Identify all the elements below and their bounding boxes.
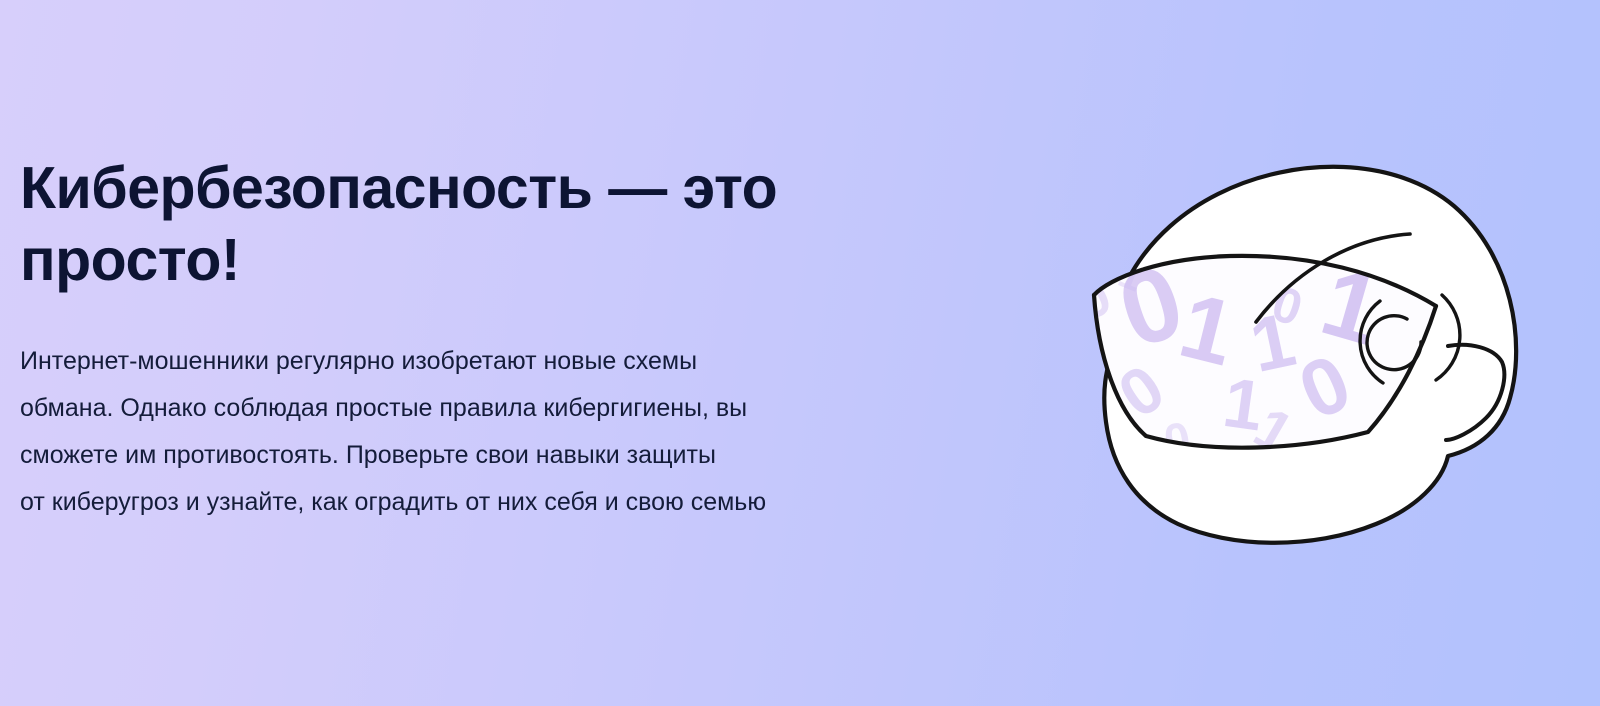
- hero-description: Интернет-мошенники регулярно изобретают …: [20, 296, 970, 526]
- page-title: Кибербезопасность — это просто!: [20, 152, 970, 296]
- helmet-icon: 010101011010: [1050, 110, 1550, 570]
- cyber-helmet-illustration: 010101011010: [1050, 110, 1550, 570]
- hero-text-column: Кибербезопасность — это просто! Интернет…: [20, 152, 970, 526]
- hero-banner: Кибербезопасность — это просто! Интернет…: [0, 0, 1600, 706]
